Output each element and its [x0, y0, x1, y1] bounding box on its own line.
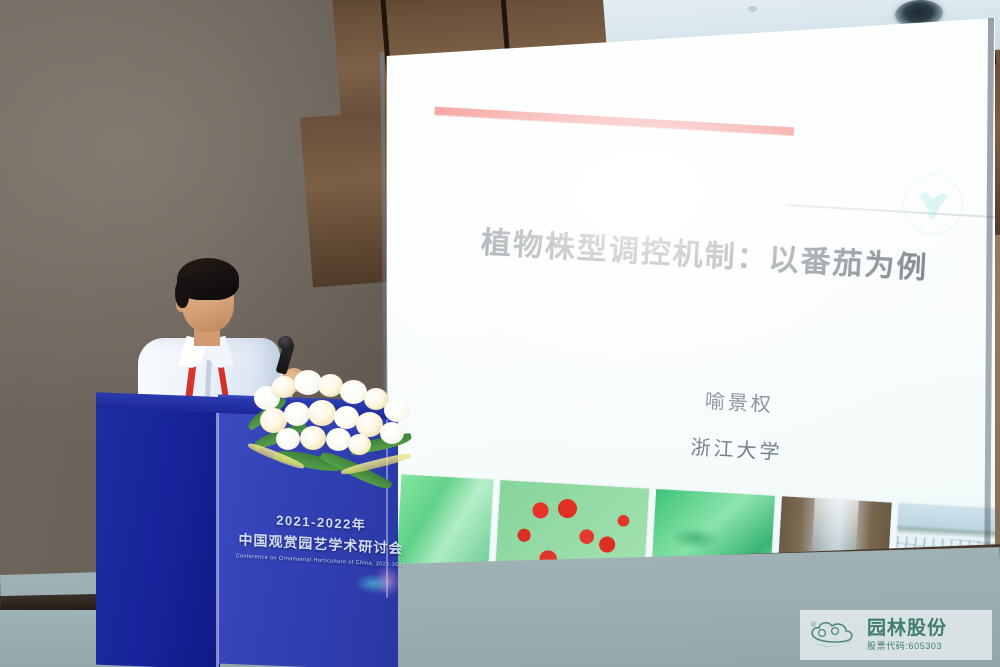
- podium-banner-text: 2021-2022年 中国观赏园艺学术研讨会 Conference on Orn…: [236, 507, 407, 568]
- watermark-badge: ® 园林股份 股票代码:605303: [800, 610, 992, 660]
- conference-presentation-scene: 植物株型调控机制：以番茄为例 喻景权 浙江大学: [0, 0, 1000, 667]
- registered-trademark-mark: ®: [811, 622, 816, 629]
- zhejiang-university-emblem-icon: [901, 173, 964, 236]
- projection-screen: 植物株型调控机制：以番茄为例 喻景权 浙江大学: [383, 18, 995, 603]
- slide-accent-bar: [434, 107, 794, 136]
- ceiling-sprinkler-icon: [748, 6, 757, 12]
- watermark-brand-name: 园林股份: [867, 619, 947, 638]
- slide-content: 植物株型调控机制：以番茄为例 喻景权 浙江大学: [366, 18, 1000, 637]
- podium-panel-left: [96, 404, 220, 667]
- speaker-hair-side: [175, 278, 189, 308]
- slide-title: 植物株型调控机制：以番茄为例: [444, 221, 965, 291]
- slide-author: 喻景权: [574, 377, 905, 425]
- podium-panel-divider: [216, 398, 219, 667]
- slide-thin-rule: [786, 204, 1000, 219]
- slide-affiliation: 浙江大学: [571, 424, 902, 472]
- watermark-stock-code: 股票代码:605303: [867, 642, 947, 651]
- tree-cloud-logo-icon: ®: [808, 618, 860, 652]
- flower-arrangement: [248, 368, 420, 500]
